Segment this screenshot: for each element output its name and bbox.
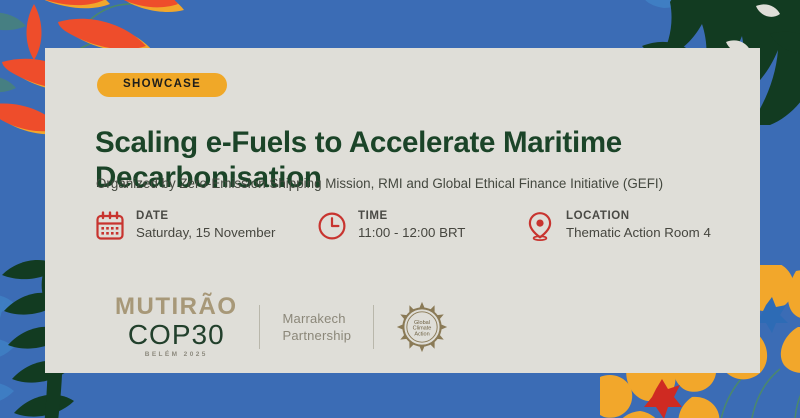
showcase-badge: SHOWCASE	[97, 73, 227, 97]
location-pin-icon	[525, 211, 555, 241]
marrakech-line-2: Partnership	[282, 327, 351, 344]
clock-icon	[317, 211, 347, 241]
gca-line-3: Action	[414, 331, 429, 337]
detail-location-value: Thematic Action Room 4	[566, 224, 711, 241]
detail-location: LOCATION Thematic Action Room 4	[525, 210, 711, 242]
event-details-row: DATE Saturday, 15 November TIME 11:00 - …	[95, 210, 755, 260]
detail-location-label: LOCATION	[566, 210, 711, 223]
logo-divider-secondary	[373, 305, 374, 349]
event-card: SHOWCASE Scaling e-Fuels to Accelerate M…	[45, 48, 760, 373]
cop30-logo-text: COP30	[128, 320, 225, 349]
cop30-logo: MUTIRÃO COP30 BELÉM 2025	[115, 295, 237, 359]
detail-time-label: TIME	[358, 210, 465, 223]
flower-center-red	[644, 379, 682, 418]
marrakech-line-1: Marrakech	[282, 310, 351, 327]
detail-date-label: DATE	[136, 210, 275, 223]
detail-time-value: 11:00 - 12:00 BRT	[358, 224, 465, 241]
marrakech-partnership-logo: Marrakech Partnership	[282, 310, 351, 344]
detail-date-value: Saturday, 15 November	[136, 224, 275, 241]
global-climate-action-seal: Global Climate Action	[396, 301, 448, 353]
cop30-logo-belem: BELÉM 2025	[145, 352, 208, 359]
logo-divider	[259, 305, 260, 349]
calendar-icon	[95, 211, 125, 241]
organizer-line: Organized by Zero-Emission Shipping Miss…	[96, 175, 756, 192]
flower-center-blue	[756, 297, 788, 333]
detail-date: DATE Saturday, 15 November	[95, 210, 275, 242]
detail-time: TIME 11:00 - 12:00 BRT	[317, 210, 465, 242]
cop30-logo-mutirao: MUTIRÃO	[115, 295, 237, 319]
poster-canvas: SHOWCASE Scaling e-Fuels to Accelerate M…	[0, 0, 800, 418]
logo-strip: MUTIRÃO COP30 BELÉM 2025 Marrakech Partn…	[115, 296, 448, 358]
